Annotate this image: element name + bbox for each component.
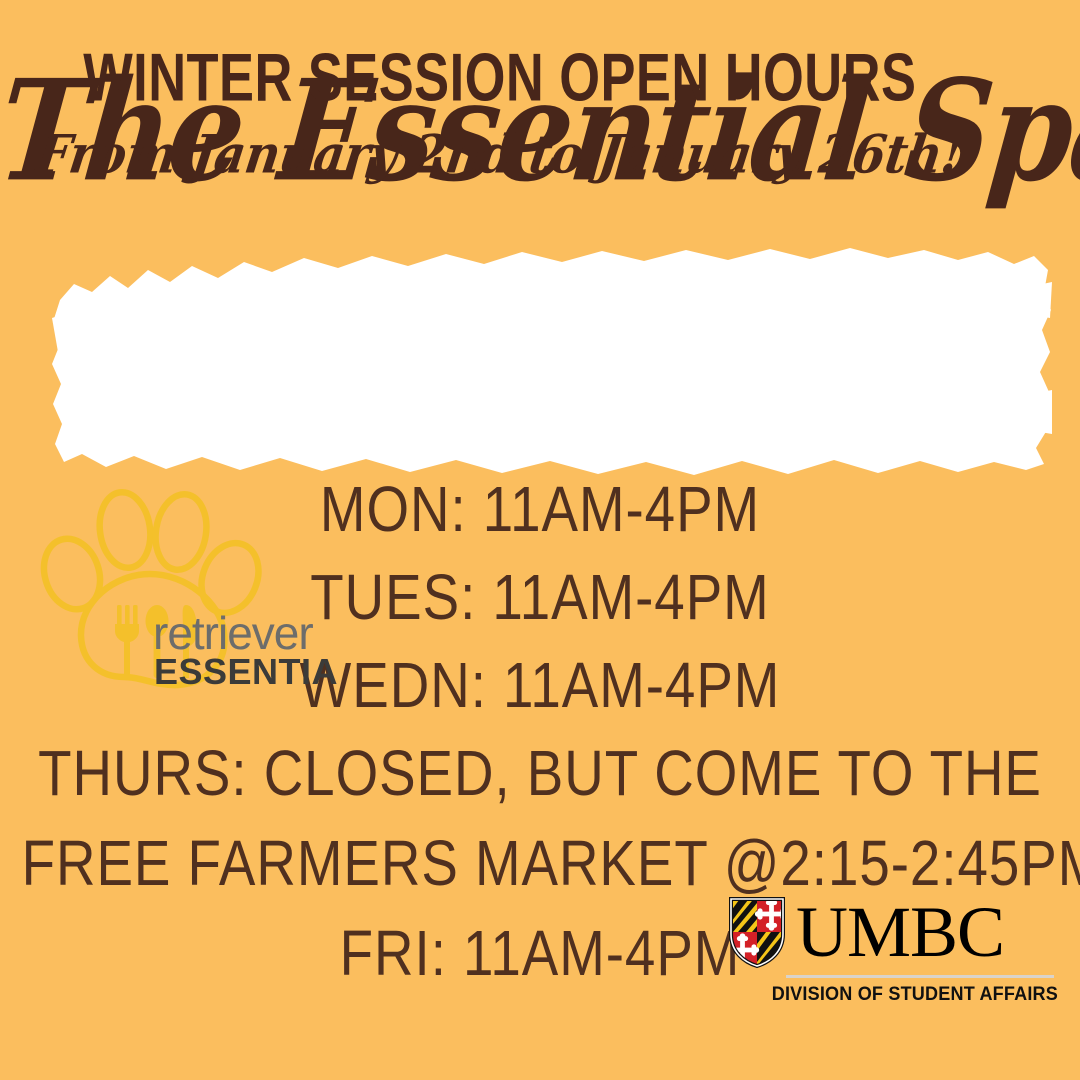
title-container: The Essential Space (0, 72, 1080, 190)
umbc-logo-row: UMBC (728, 893, 1058, 971)
umbc-subtitle: DIVISION OF STUDENT AFFAIRS (745, 984, 1059, 1006)
maryland-shield-icon (728, 896, 786, 968)
umbc-logo: UMBC DIVISION OF STUDENT AFFAIRS (728, 893, 1058, 1013)
umbc-divider-rule (786, 975, 1054, 978)
banner-brushstroke (52, 248, 1052, 476)
retriever-essentials-logo: retriever ESSENTIALS (38, 478, 338, 698)
logo-word-essentials: ESSENTIALS (154, 651, 338, 692)
umbc-wordmark: UMBC (796, 896, 1004, 968)
poster-canvas: The Essential Space WINTER SESSION OPEN … (0, 0, 1080, 1080)
hours-row-farmers-market: FREE FARMERS MARKET @2:15-2:45PM! (22, 833, 1059, 897)
hours-row-thurs: THURS: CLOSED, BUT COME TO THE (22, 743, 1059, 807)
page-title: The Essential Space (0, 61, 1080, 200)
